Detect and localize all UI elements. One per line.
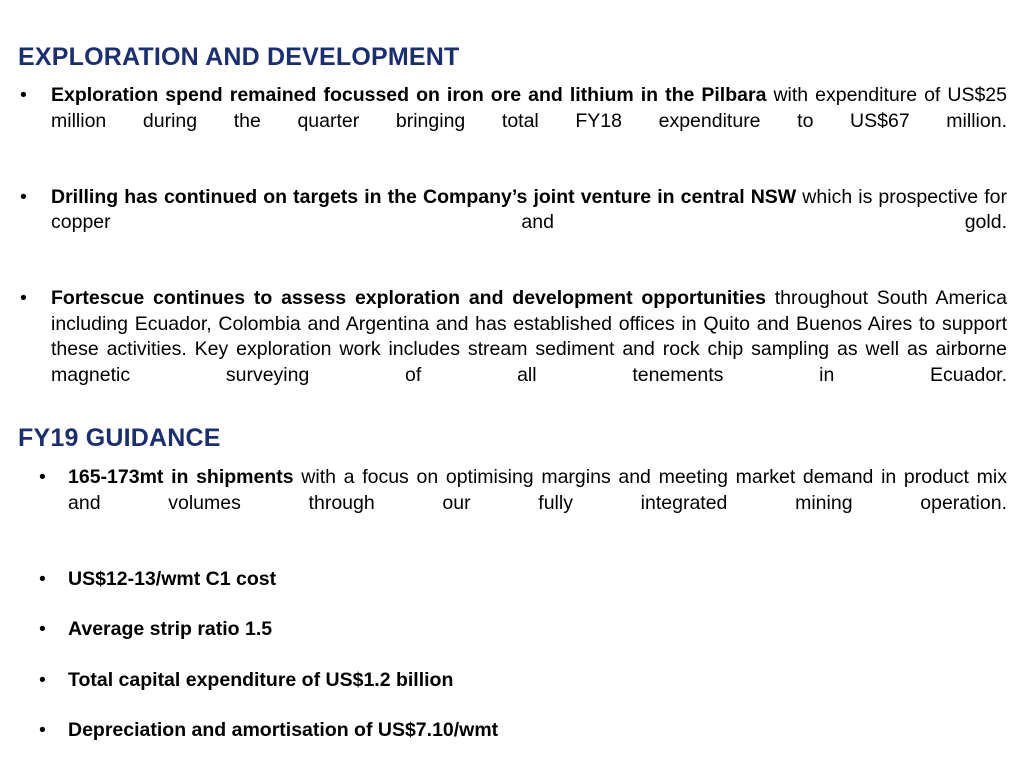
bullet-dot-icon — [20, 185, 30, 211]
list-item-lead: Depreciation and amortisation of US$7.10… — [68, 719, 498, 741]
list-item: 165-173mt in shipments with a focus on o… — [0, 465, 1007, 542]
list-item-lead: Fortescue continues to assess exploratio… — [51, 287, 766, 309]
list-item-text: 165-173mt in shipments with a focus on o… — [68, 465, 1007, 542]
list-item: Total capital expenditure of US$1.2 bill… — [0, 668, 1007, 694]
bullet-dot-icon — [20, 83, 30, 109]
section-heading-exploration-and-development: EXPLORATION AND DEVELOPMENT — [18, 43, 460, 72]
list-item-text: Drilling has continued on targets in the… — [51, 185, 1007, 262]
list-item-text: Average strip ratio 1.5 — [68, 617, 1007, 643]
list-item: Exploration spend remained focussed on i… — [0, 83, 1007, 160]
list-item-lead: Average strip ratio 1.5 — [68, 618, 272, 640]
list-item-text: US$12-13/wmt C1 cost — [68, 567, 1007, 593]
section-heading-fy19-guidance: FY19 GUIDANCE — [18, 424, 221, 453]
list-item-lead: US$12-13/wmt C1 cost — [68, 568, 276, 590]
list-item-lead: Total capital expenditure of US$1.2 bill… — [68, 669, 453, 691]
list-item: Fortescue continues to assess exploratio… — [0, 286, 1007, 414]
bullet-list-exploration: Exploration spend remained focussed on i… — [0, 83, 1007, 439]
list-item-text: Total capital expenditure of US$1.2 bill… — [68, 668, 1007, 694]
bullet-dot-icon — [39, 617, 49, 643]
list-item: Drilling has continued on targets in the… — [0, 185, 1007, 262]
list-item: Average strip ratio 1.5 — [0, 617, 1007, 643]
list-item: US$12-13/wmt C1 cost — [0, 567, 1007, 593]
bullet-dot-icon — [39, 567, 49, 593]
bullet-dot-icon — [39, 668, 49, 694]
list-item-lead: Exploration spend remained focussed on i… — [51, 84, 766, 106]
bullet-dot-icon — [20, 286, 30, 312]
list-item-lead: Drilling has continued on targets in the… — [51, 186, 796, 208]
list-item-lead: 165-173mt in shipments — [68, 466, 294, 488]
bullet-dot-icon — [39, 465, 49, 491]
bullet-list-fy19-guidance: 165-173mt in shipments with a focus on o… — [0, 465, 1007, 769]
list-item-text: Fortescue continues to assess exploratio… — [51, 286, 1007, 414]
document-page: EXPLORATION AND DEVELOPMENT Exploration … — [0, 0, 1027, 731]
list-item-text: Exploration spend remained focussed on i… — [51, 83, 1007, 160]
